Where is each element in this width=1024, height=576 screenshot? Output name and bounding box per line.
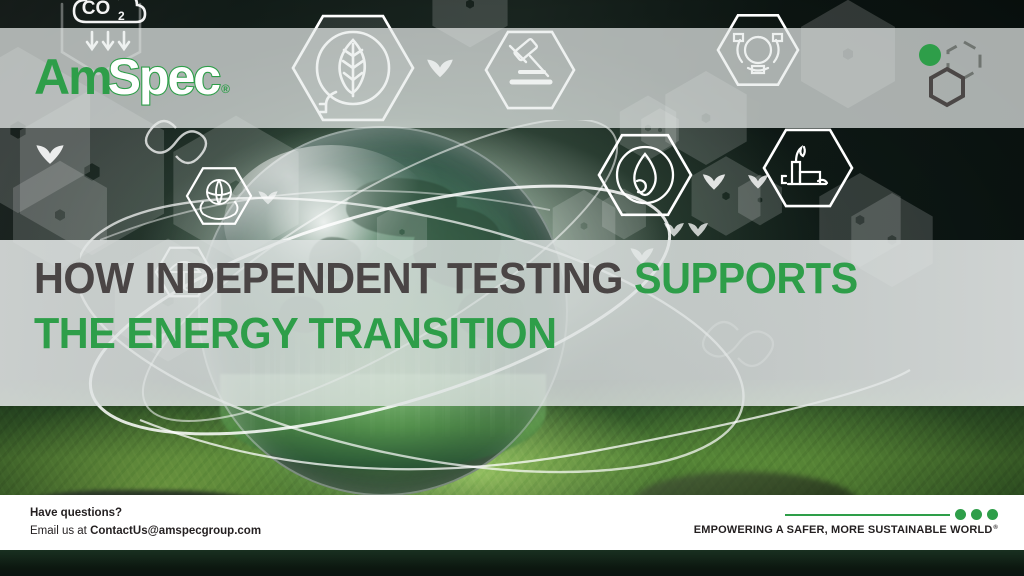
headline-part-green: SUPPORTS: [634, 254, 858, 303]
tagline-block: EMPOWERING A SAFER, MORE SUSTAINABLE WOR…: [694, 509, 998, 536]
email-prefix-label: Email us at: [30, 525, 90, 537]
dark-outline-hexagon-icon: [931, 69, 963, 105]
tagline-divider: [785, 514, 950, 516]
tagline-text: EMPOWERING A SAFER, MORE SUSTAINABLE WOR…: [694, 524, 993, 536]
footer-bar: Have questions? Email us at ContactUs@am…: [0, 495, 1024, 550]
banner-stage: CO 2: [0, 0, 1024, 576]
have-questions-label: Have questions?: [30, 505, 261, 523]
accent-dot-1: [955, 509, 966, 520]
bottom-strip: [0, 550, 1024, 576]
email-line: Email us at ContactUs@amspecgroup.com: [30, 523, 261, 541]
amspec-logo[interactable]: AmSpec®: [34, 46, 230, 102]
accent-dot-2: [971, 509, 982, 520]
headline-part-dark: HOW INDEPENDENT TESTING: [34, 254, 634, 303]
tagline-registered-mark: ®: [993, 525, 998, 531]
tagline-rule-row: [785, 509, 998, 520]
headline-line-1: HOW INDEPENDENT TESTING SUPPORTS: [34, 252, 936, 307]
headline-line-2: THE ENERGY TRANSITION: [34, 307, 936, 362]
logo-text-spec: Spec: [108, 52, 220, 102]
contact-block: Have questions? Email us at ContactUs@am…: [30, 505, 261, 541]
logo-registered-mark: ®: [221, 82, 230, 96]
accent-dot-3: [987, 509, 998, 520]
email-address-link[interactable]: ContactUs@amspecgroup.com: [90, 525, 261, 537]
corner-hexagon-mark: [912, 38, 998, 114]
logo-text-am: Am: [34, 52, 111, 102]
page-title: HOW INDEPENDENT TESTING SUPPORTS THE ENE…: [34, 252, 936, 361]
company-tagline: EMPOWERING A SAFER, MORE SUSTAINABLE WOR…: [694, 524, 998, 536]
solid-green-hexagon-icon: [919, 44, 941, 66]
